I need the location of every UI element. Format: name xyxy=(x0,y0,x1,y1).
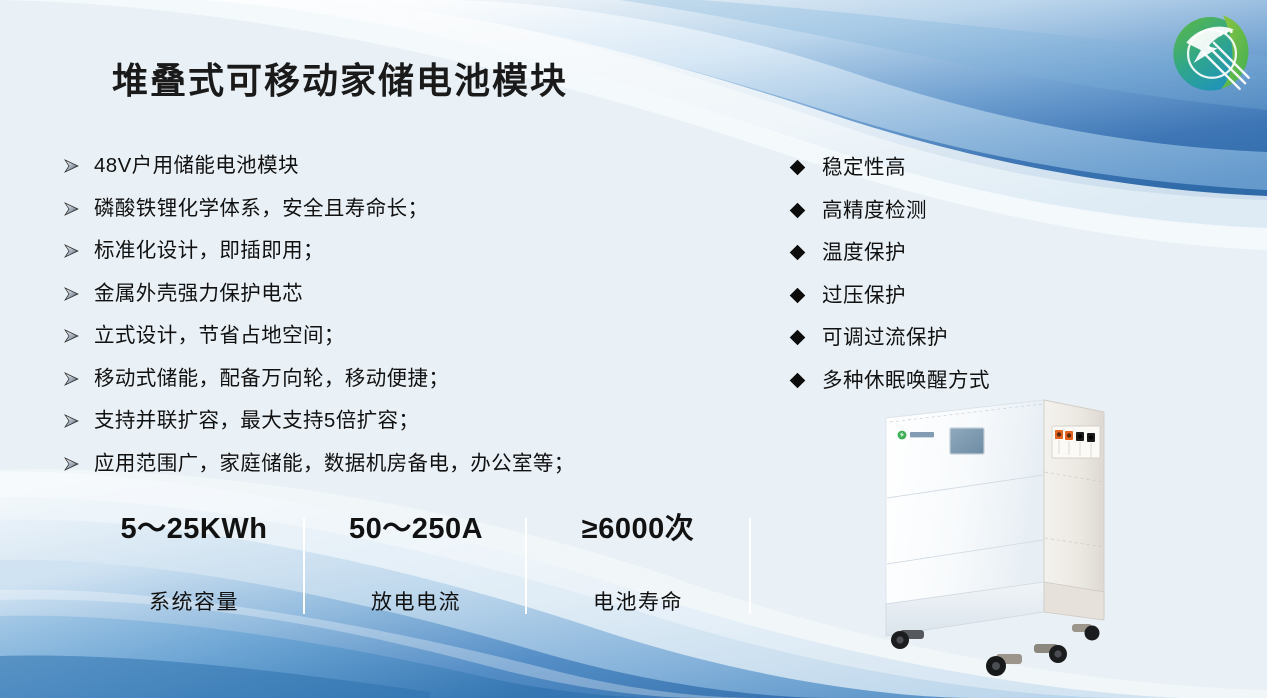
stat-divider xyxy=(749,518,751,614)
list-item-label: 高精度检测 xyxy=(822,193,927,223)
stat-capacity: 5〜25KWh 系统容量 xyxy=(86,508,302,616)
stat-current: 50〜250A 放电电流 xyxy=(308,508,524,616)
arrow-bullet-icon xyxy=(64,202,86,216)
diamond-bullet-icon xyxy=(792,202,808,218)
spec-stats: 5〜25KWh 系统容量 50〜250A 放电电流 ≥6000次 电池寿命 xyxy=(84,508,756,620)
arrow-bullet-icon xyxy=(64,329,86,343)
list-item-label: 金属外壳强力保护电芯 xyxy=(94,276,303,306)
list-item-label: 支持并联扩容，最大支持5倍扩容； xyxy=(94,403,419,433)
list-item-label: 应用范围广，家庭储能，数据机房备电，办公室等； xyxy=(94,446,575,476)
list-item: 高精度检测 xyxy=(792,193,1092,236)
list-item: 标准化设计，即插即用； xyxy=(64,233,704,276)
list-item-label: 稳定性高 xyxy=(822,150,906,180)
stat-label: 系统容量 xyxy=(86,586,302,616)
list-item-label: 磷酸铁锂化学体系，安全且寿命长； xyxy=(94,191,428,221)
diamond-bullet-icon xyxy=(792,372,808,388)
diamond-bullet-icon xyxy=(792,329,808,345)
list-item: 过压保护 xyxy=(792,278,1092,321)
list-item: 立式设计，节省占地空间； xyxy=(64,318,704,361)
list-item: 稳定性高 xyxy=(792,150,1092,193)
slide-canvas: 堆叠式可移动家储电池模块 48V户用储能电池模块 xyxy=(0,0,1267,698)
diamond-bullet-icon xyxy=(792,159,808,175)
list-item-label: 温度保护 xyxy=(822,235,906,265)
list-item: 48V户用储能电池模块 xyxy=(64,148,704,191)
stat-cycle-life: ≥6000次 电池寿命 xyxy=(530,508,746,616)
stat-value: ≥6000次 xyxy=(530,508,746,550)
feature-list-left: 48V户用储能电池模块 磷酸铁锂化学体系，安全且寿命长； 标准化设计，即插即用；… xyxy=(64,148,704,488)
list-item-label: 48V户用储能电池模块 xyxy=(94,148,299,178)
stat-label: 电池寿命 xyxy=(530,586,746,616)
arrow-bullet-icon xyxy=(64,414,86,428)
arrow-bullet-icon xyxy=(64,457,86,471)
diamond-bullet-icon xyxy=(792,244,808,260)
stat-label: 放电电流 xyxy=(308,586,524,616)
list-item: 温度保护 xyxy=(792,235,1092,278)
list-item-label: 立式设计，节省占地空间； xyxy=(94,318,345,348)
list-item: 移动式储能，配备万向轮，移动便捷； xyxy=(64,361,704,404)
arrow-bullet-icon xyxy=(64,244,86,258)
list-item: 可调过流保护 xyxy=(792,320,1092,363)
list-item: 磷酸铁锂化学体系，安全且寿命长； xyxy=(64,191,704,234)
stat-divider xyxy=(525,518,527,614)
stat-value: 5〜25KWh xyxy=(86,508,302,550)
list-item-label: 移动式储能，配备万向轮，移动便捷； xyxy=(94,361,449,391)
page-title: 堆叠式可移动家储电池模块 xyxy=(112,52,568,104)
product-image xyxy=(876,386,1126,686)
list-item-label: 可调过流保护 xyxy=(822,320,948,350)
list-item: 应用范围广，家庭储能，数据机房备电，办公室等； xyxy=(64,446,704,489)
diamond-bullet-icon xyxy=(792,287,808,303)
arrow-bullet-icon xyxy=(64,287,86,301)
list-item-label: 过压保护 xyxy=(822,278,906,308)
list-item: 金属外壳强力保护电芯 xyxy=(64,276,704,319)
list-item: 支持并联扩容，最大支持5倍扩容； xyxy=(64,403,704,446)
company-logo-icon xyxy=(1166,6,1258,98)
stat-divider xyxy=(303,518,305,614)
feature-list-right: 稳定性高 高精度检测 温度保护 过压保护 可调过流保护 多种休眠唤醒方式 xyxy=(792,150,1092,405)
list-item-label: 标准化设计，即插即用； xyxy=(94,233,324,263)
arrow-bullet-icon xyxy=(64,159,86,173)
arrow-bullet-icon xyxy=(64,372,86,386)
stat-value: 50〜250A xyxy=(308,508,524,550)
